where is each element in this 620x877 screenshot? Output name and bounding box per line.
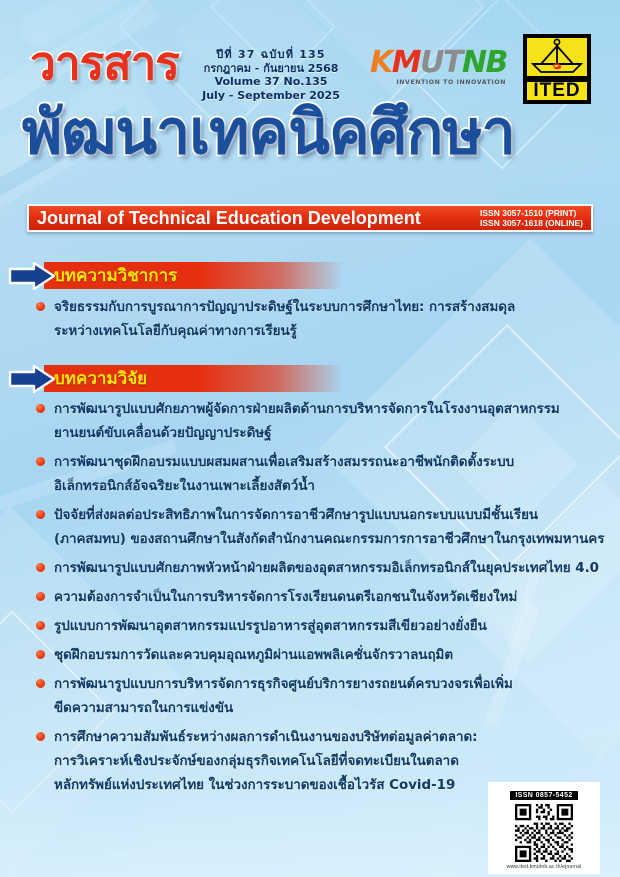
article-title-line: การพัฒนารูปแบบศักยภาพผู้จัดการฝ่ายผลิตด้…: [54, 398, 596, 422]
arrow-right-icon: [8, 363, 56, 395]
article-title: การพัฒนารูปแบบศักยภาพผู้จัดการฝ่ายผลิตด้…: [54, 398, 596, 446]
article-title-line: ปัจจัยที่ส่งผลต่อประสิทธิภาพในการจัดการอ…: [54, 504, 596, 528]
bullet-icon: [36, 592, 45, 601]
bullet-icon: [36, 679, 45, 688]
bullet-icon: [36, 457, 45, 466]
kmutnb-letter-k: K: [370, 45, 392, 80]
article-title: จริยธรรมกับการบูรณาการปัญญาประดิษฐ์ในระบ…: [54, 296, 596, 344]
volume-en: Volume 37 No.135: [196, 75, 346, 89]
journal-subtitle-bar: Journal of Technical Education Developme…: [27, 204, 593, 232]
bullet-icon: [36, 621, 45, 630]
article-entry[interactable]: ปัจจัยที่ส่งผลต่อประสิทธิภาพในการจัดการอ…: [36, 504, 596, 552]
article-title: ความต้องการจำเป็นในการบริหารจัดการโรงเรี…: [54, 586, 596, 610]
kmutnb-wordmark: KMUTNB: [370, 48, 506, 78]
section-banner: บทความวิจัย: [44, 365, 344, 392]
journal-word-thai: วารสาร: [30, 40, 179, 86]
article-entry[interactable]: ความต้องการจำเป็นในการบริหารจัดการโรงเรี…: [36, 586, 596, 610]
volume-info: ปีที่ 37 ฉบับที่ 135 กรกฎาคม - กันยายน 2…: [196, 48, 346, 102]
article-title-line: อิเล็กทรอนิกส์อัจฉริยะในงานเพาะเลี้ยงสัต…: [54, 475, 596, 499]
article-title: ชุดฝึกอบรมการวัดและควบคุมอุณหภูมิผ่านแอพ…: [54, 644, 596, 668]
article-title-line: ยานยนต์ขับเคลื่อนด้วยปัญญาประดิษฐ์: [54, 422, 596, 446]
kmutnb-letter-ut: UT: [420, 45, 462, 80]
ited-logo: ITED: [523, 34, 591, 104]
article-entry[interactable]: การพัฒนารูปแบบศักยภาพผู้จัดการฝ่ายผลิตด้…: [36, 398, 596, 446]
issn-block: ISSN 3057-1510 (PRINT) ISSN 3057-1618 (O…: [480, 208, 591, 228]
article-title-line: (ภาคสมทบ) ของสถานศึกษาในสังกัดสำนักงานคณ…: [54, 528, 596, 552]
ited-compass-icon: [527, 38, 587, 76]
journal-cover: วารสาร ปีที่ 37 ฉบับที่ 135 กรกฎาคม - กั…: [0, 0, 620, 877]
period-thai: กรกฎาคม - กันยายน 2568: [196, 62, 346, 76]
article-title-line: รูปแบบการพัฒนาอุตสาหกรรมแปรรูปอาหารสู่อุ…: [54, 615, 596, 639]
article-title-line: การพัฒนารูปแบบศักยภาพหัวหน้าฝ่ายผลิตของอ…: [54, 557, 596, 581]
article-title-line: การวิเคราะห์เชิงประจักษ์ของกลุ่มธุรกิจเท…: [54, 750, 596, 774]
article-title: ปัจจัยที่ส่งผลต่อประสิทธิภาพในการจัดการอ…: [54, 504, 596, 552]
section-header: บทความวิจัย: [0, 365, 620, 393]
article-entry[interactable]: การพัฒนาชุดฝึกอบรมแบบผสมผสานเพื่อเสริมสร…: [36, 451, 596, 499]
journal-title-thai: พัฒนาเทคนิคศึกษา: [22, 102, 598, 164]
article-title: การพัฒนารูปแบบศักยภาพหัวหน้าฝ่ายผลิตของอ…: [54, 557, 596, 581]
article-title: การพัฒนาชุดฝึกอบรมแบบผสมผสานเพื่อเสริมสร…: [54, 451, 596, 499]
article-entry[interactable]: การพัฒนารูปแบบการบริหารจัดการธุรกิจศูนย์…: [36, 673, 596, 721]
article-entry[interactable]: จริยธรรมกับการบูรณาการปัญญาประดิษฐ์ในระบ…: [36, 296, 596, 344]
article-title: การพัฒนารูปแบบการบริหารจัดการธุรกิจศูนย์…: [54, 673, 596, 721]
article-entry[interactable]: การพัฒนารูปแบบศักยภาพหัวหน้าฝ่ายผลิตของอ…: [36, 557, 596, 581]
section-label: บทความวิชาการ: [44, 264, 177, 288]
article-entry[interactable]: รูปแบบการพัฒนาอุตสาหกรรมแปรรูปอาหารสู่อุ…: [36, 615, 596, 639]
article-title-line: ขีดความสามารถในการแข่งขัน: [54, 697, 596, 721]
bullet-icon: [36, 510, 45, 519]
article-title-line: ชุดฝึกอบรมการวัดและควบคุมอุณหภูมิผ่านแอพ…: [54, 644, 596, 668]
qr-issn-label: ISSN 0857-5452: [510, 791, 577, 800]
bullet-icon: [36, 302, 45, 311]
article-title-line: จริยธรรมกับการบูรณาการปัญญาประดิษฐ์ในระบ…: [54, 296, 596, 320]
section-header: บทความวิชาการ: [0, 262, 620, 290]
issn-print: ISSN 3057-1510 (PRINT): [480, 208, 583, 218]
volume-thai: ปีที่ 37 ฉบับที่ 135: [196, 48, 346, 62]
bullet-icon: [36, 563, 45, 572]
section-banner: บทความวิชาการ: [44, 262, 344, 289]
arrow-right-icon: [8, 260, 56, 292]
qr-url-label: www.ited.kmutnb.ac.th/ejournal: [488, 864, 600, 870]
bullet-icon: [36, 650, 45, 659]
article-entry[interactable]: ชุดฝึกอบรมการวัดและควบคุมอุณหภูมิผ่านแอพ…: [36, 644, 596, 668]
section-label: บทความวิจัย: [44, 367, 147, 391]
journal-title-thai-text: พัฒนาเทคนิคศึกษา: [22, 97, 515, 168]
kmutnb-logo: KMUTNB INVENTION TO INNOVATION: [370, 48, 506, 94]
ited-label: ITED: [525, 80, 589, 102]
qr-block: ISSN 0857-5452: [488, 782, 600, 874]
qr-code-icon[interactable]: [515, 804, 573, 862]
kmutnb-letter-m: M: [392, 45, 420, 80]
article-title-line: การพัฒนาชุดฝึกอบรมแบบผสมผสานเพื่อเสริมสร…: [54, 451, 596, 475]
kmutnb-letter-nb: NB: [462, 45, 507, 80]
article-title-line: การศึกษาความสัมพันธ์ระหว่างผลการดำเนินงา…: [54, 726, 596, 750]
bullet-icon: [36, 404, 45, 413]
article-title: รูปแบบการพัฒนาอุตสาหกรรมแปรรูปอาหารสู่อุ…: [54, 615, 596, 639]
article-title-line: การพัฒนารูปแบบการบริหารจัดการธุรกิจศูนย์…: [54, 673, 596, 697]
kmutnb-tagline: INVENTION TO INNOVATION: [370, 79, 506, 86]
ited-emblem: [525, 36, 589, 78]
journal-title-en: Journal of Technical Education Developme…: [29, 208, 480, 229]
bullet-icon: [36, 732, 45, 741]
masthead: วารสาร ปีที่ 37 ฉบับที่ 135 กรกฎาคม - กั…: [0, 0, 620, 250]
issn-online: ISSN 3057-1618 (ONLINE): [480, 218, 583, 228]
article-title-line: ระหว่างเทคโนโลยีกับคุณค่าทางการเรียนรู้: [54, 320, 596, 344]
article-title-line: ความต้องการจำเป็นในการบริหารจัดการโรงเรี…: [54, 586, 596, 610]
